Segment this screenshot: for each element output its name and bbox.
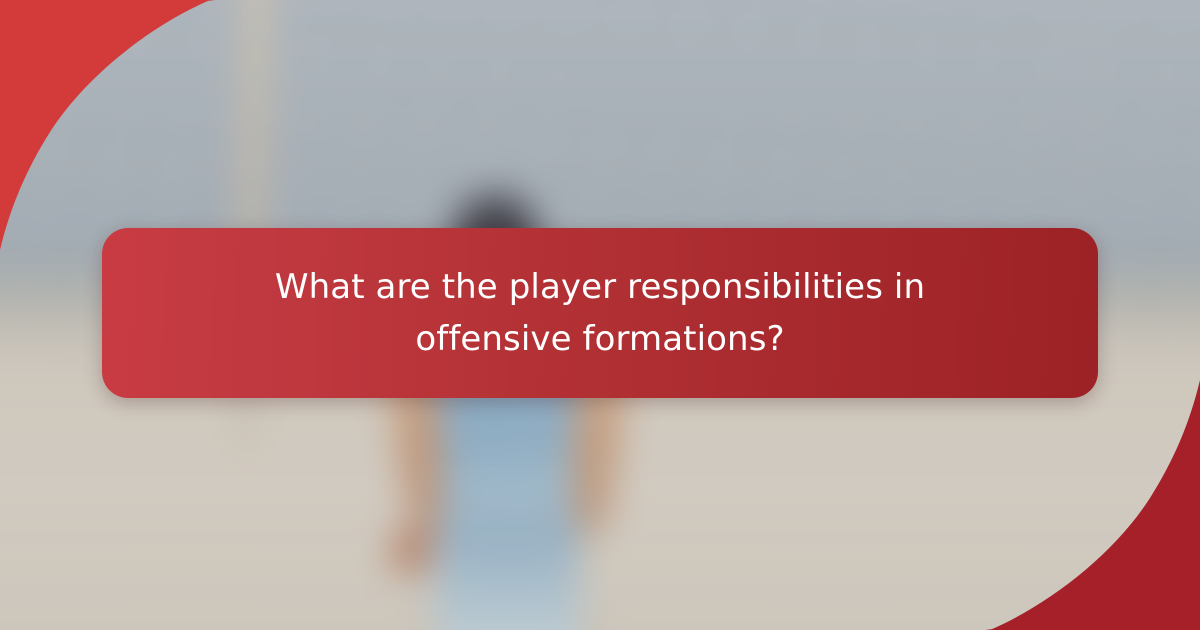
- question-banner: What are the player responsibilities in …: [102, 228, 1098, 398]
- question-text: What are the player responsibilities in …: [250, 261, 950, 365]
- question-card: What are the player responsibilities in …: [0, 0, 1200, 630]
